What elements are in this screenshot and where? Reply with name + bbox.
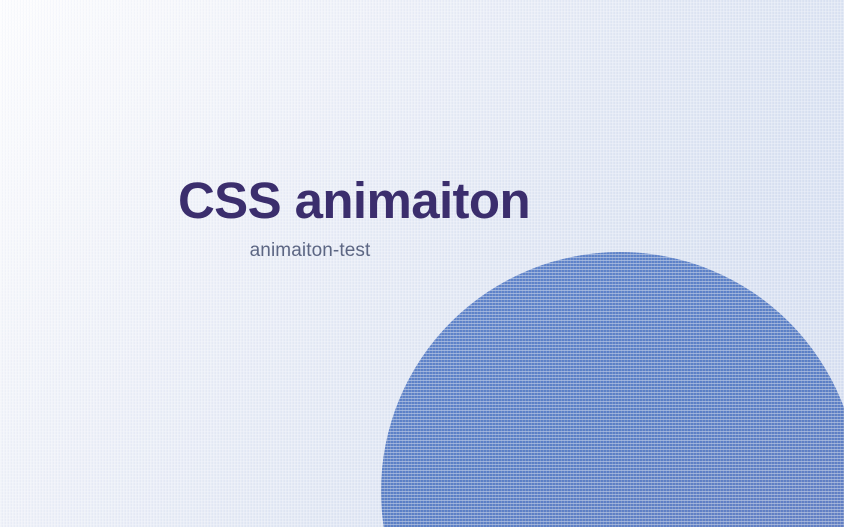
hero-text-block: CSS animaiton animaiton-test	[0, 172, 708, 262]
page-title: CSS animaiton	[0, 172, 708, 230]
animation-stage: CSS animaiton animaiton-test	[0, 0, 844, 527]
page-subtitle: animaiton-test	[0, 240, 664, 262]
blue-circle	[381, 252, 844, 527]
circle-texture-overlay	[381, 252, 844, 527]
